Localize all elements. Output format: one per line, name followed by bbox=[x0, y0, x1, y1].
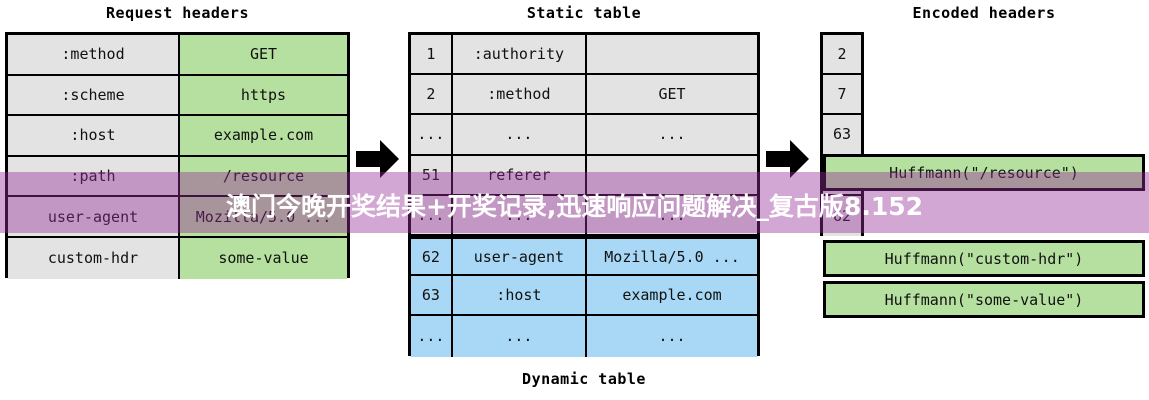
header-value-cell: Mozilla/5.0 ... bbox=[180, 197, 347, 236]
table-row: ... ... ... bbox=[411, 316, 757, 356]
table-row: :scheme https bbox=[8, 76, 347, 117]
dynamic-table-title: Dynamic table bbox=[408, 370, 760, 388]
encoded-index-cell: 2 bbox=[823, 35, 861, 73]
arrow-right-icon-2 bbox=[766, 139, 810, 179]
huffman-literal-box: Huffmann("some-value") bbox=[823, 281, 1145, 318]
table-row: 2 :method GET bbox=[411, 75, 757, 115]
header-value-cell bbox=[587, 35, 757, 73]
header-value-cell: GET bbox=[180, 35, 347, 74]
static-table-title: Static table bbox=[408, 4, 760, 22]
header-value-cell: ... bbox=[587, 115, 757, 153]
table-row: :path /resource bbox=[8, 157, 347, 198]
index-cell: ... bbox=[411, 316, 453, 356]
header-value-cell: example.com bbox=[180, 116, 347, 155]
header-value-cell bbox=[587, 156, 757, 194]
header-value-cell: /resource bbox=[180, 157, 347, 196]
request-headers-title: Request headers bbox=[5, 4, 350, 22]
header-value-cell: example.com bbox=[587, 276, 757, 314]
huffman-literal-box: Huffmann("/resource") bbox=[823, 154, 1145, 191]
header-name-cell: :host bbox=[8, 116, 180, 155]
header-name-cell: :method bbox=[453, 75, 587, 113]
table-row: 1 :authority bbox=[411, 35, 757, 75]
header-name-cell: :path bbox=[8, 157, 180, 196]
table-row: 63 bbox=[823, 115, 861, 155]
table-row: :method GET bbox=[8, 35, 347, 76]
table-row: custom-hdr some-value bbox=[8, 238, 347, 279]
index-cell: 2 bbox=[411, 75, 453, 113]
encoded-index-cell: 62 bbox=[823, 196, 861, 236]
header-name-cell: user-agent bbox=[453, 239, 587, 274]
index-cell: 51 bbox=[411, 156, 453, 194]
arrow-right-icon-1 bbox=[356, 139, 400, 179]
table-row: 62 bbox=[823, 196, 861, 236]
header-value-cell: ... bbox=[587, 196, 757, 234]
header-value-cell: ... bbox=[587, 316, 757, 356]
table-row: 51 referer bbox=[411, 156, 757, 196]
index-cell: 1 bbox=[411, 35, 453, 73]
index-cell: 63 bbox=[411, 276, 453, 314]
table-row: user-agent Mozilla/5.0 ... bbox=[8, 197, 347, 238]
encoded-headers-title: Encoded headers bbox=[823, 4, 1145, 22]
index-cell: ... bbox=[411, 196, 453, 234]
table-row: 62 user-agent Mozilla/5.0 ... bbox=[411, 236, 757, 276]
table-row: 7 bbox=[823, 75, 861, 115]
static-dynamic-index-table: 1 :authority 2 :method GET ... ... ... 5… bbox=[408, 32, 760, 356]
header-name-cell: :method bbox=[8, 35, 180, 74]
huffman-literal-box: Huffmann("custom-hdr") bbox=[823, 240, 1145, 277]
index-cell: 62 bbox=[411, 239, 453, 274]
header-name-cell: :authority bbox=[453, 35, 587, 73]
table-row: 63 :host example.com bbox=[411, 276, 757, 316]
table-row: ... ... ... bbox=[411, 115, 757, 155]
encoded-index-cell: 63 bbox=[823, 115, 861, 153]
index-cell: ... bbox=[411, 115, 453, 153]
table-row: ... ... ... bbox=[411, 196, 757, 236]
header-value-cell: Mozilla/5.0 ... bbox=[587, 239, 757, 274]
header-value-cell: some-value bbox=[180, 238, 347, 279]
header-name-cell: custom-hdr bbox=[8, 238, 180, 279]
header-value-cell: https bbox=[180, 76, 347, 115]
header-name-cell: :scheme bbox=[8, 76, 180, 115]
header-name-cell: ... bbox=[453, 115, 587, 153]
header-name-cell: ... bbox=[453, 196, 587, 234]
table-row: 2 bbox=[823, 35, 861, 75]
header-name-cell: user-agent bbox=[8, 197, 180, 236]
header-name-cell: ... bbox=[453, 316, 587, 356]
header-name-cell: :host bbox=[453, 276, 587, 314]
request-headers-table: :method GET :scheme https :host example.… bbox=[5, 32, 350, 278]
encoded-index-cell: 7 bbox=[823, 75, 861, 113]
header-value-cell: GET bbox=[587, 75, 757, 113]
table-row: :host example.com bbox=[8, 116, 347, 157]
encoded-index-table: 2 7 63 19 62 bbox=[820, 32, 864, 236]
header-name-cell: referer bbox=[453, 156, 587, 194]
